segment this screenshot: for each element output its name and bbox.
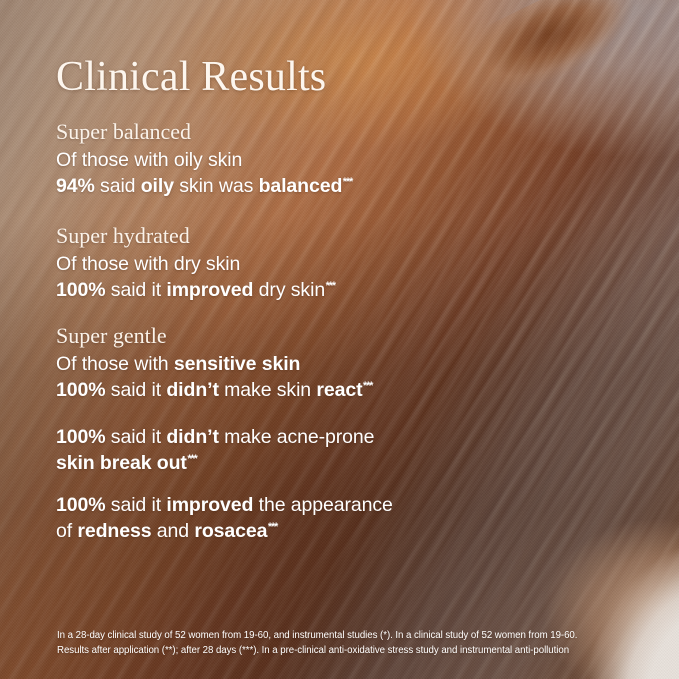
result-line: Of those with oily skin [56, 147, 352, 173]
footnote-disclaimer: In a 28-day clinical study of 52 women f… [57, 628, 657, 658]
plain-text: said it [105, 279, 166, 301]
emphasis-text: skin break out [56, 452, 187, 474]
result-line: Of those with sensitive skin [56, 351, 372, 377]
emphasis-text: didn’t [166, 426, 218, 448]
result-block-super-hydrated: Super hydrated Of those with dry skin 10… [56, 222, 335, 303]
emphasis-text: 100% [56, 494, 105, 516]
footnote-marker: *** [187, 453, 197, 465]
emphasis-text: oily [141, 175, 174, 197]
page-title: Clinical Results [56, 53, 326, 101]
footnote-line: In a 28-day clinical study of 52 women f… [57, 628, 657, 643]
result-line: Of those with dry skin [56, 251, 335, 277]
result-block-redness-rosacea: 100% said it improved the appearance of … [56, 492, 393, 544]
emphasis-text: react [316, 379, 362, 401]
plain-text: of [56, 520, 77, 542]
clinical-results-graphic: Clinical Results Super balanced Of those… [0, 0, 679, 679]
plain-text: and [151, 520, 194, 542]
result-block-heading: Super gentle [56, 322, 372, 350]
emphasis-text: 100% [56, 426, 105, 448]
plain-text: said it [105, 494, 166, 516]
footnote-marker: *** [342, 176, 352, 188]
emphasis-text: redness [77, 520, 151, 542]
result-line: 94% said oily skin was balanced*** [56, 173, 352, 199]
result-block-acne-prone: 100% said it didn’t make acne-prone skin… [56, 424, 374, 476]
emphasis-text: rosacea [194, 520, 267, 542]
plain-text: make skin [219, 379, 317, 401]
plain-text: said [95, 175, 141, 197]
result-line: of redness and rosacea*** [56, 518, 393, 544]
plain-text: make acne-prone [219, 426, 375, 448]
result-line: 100% said it didn’t make acne-prone [56, 424, 374, 450]
emphasis-text: improved [166, 279, 253, 301]
footnote-marker: *** [362, 380, 372, 392]
content-overlay: Clinical Results Super balanced Of those… [0, 0, 679, 679]
result-line: 100% said it didn’t make skin react*** [56, 377, 372, 403]
footnote-marker: *** [267, 521, 277, 533]
result-block-super-gentle: Super gentle Of those with sensitive ski… [56, 322, 372, 403]
emphasis-text: sensitive skin [174, 353, 301, 375]
emphasis-text: balanced [259, 175, 343, 197]
emphasis-text: 94% [56, 175, 95, 197]
footnote-line: Results after application (**); after 28… [57, 643, 657, 658]
plain-text: dry skin [253, 279, 325, 301]
plain-text: Of those with oily skin [56, 149, 242, 171]
footnote-marker: *** [325, 280, 335, 292]
plain-text: the appearance [253, 494, 392, 516]
plain-text: Of those with [56, 353, 174, 375]
result-block-heading: Super balanced [56, 118, 352, 146]
plain-text: skin was [174, 175, 259, 197]
plain-text: said it [105, 426, 166, 448]
result-line: skin break out*** [56, 450, 374, 476]
plain-text: Of those with dry skin [56, 253, 240, 275]
result-block-heading: Super hydrated [56, 222, 335, 250]
result-block-super-balanced: Super balanced Of those with oily skin 9… [56, 118, 352, 199]
result-line: 100% said it improved the appearance [56, 492, 393, 518]
plain-text: said it [105, 379, 166, 401]
emphasis-text: didn’t [166, 379, 218, 401]
emphasis-text: 100% [56, 379, 105, 401]
emphasis-text: 100% [56, 279, 105, 301]
result-line: 100% said it improved dry skin*** [56, 277, 335, 303]
emphasis-text: improved [166, 494, 253, 516]
